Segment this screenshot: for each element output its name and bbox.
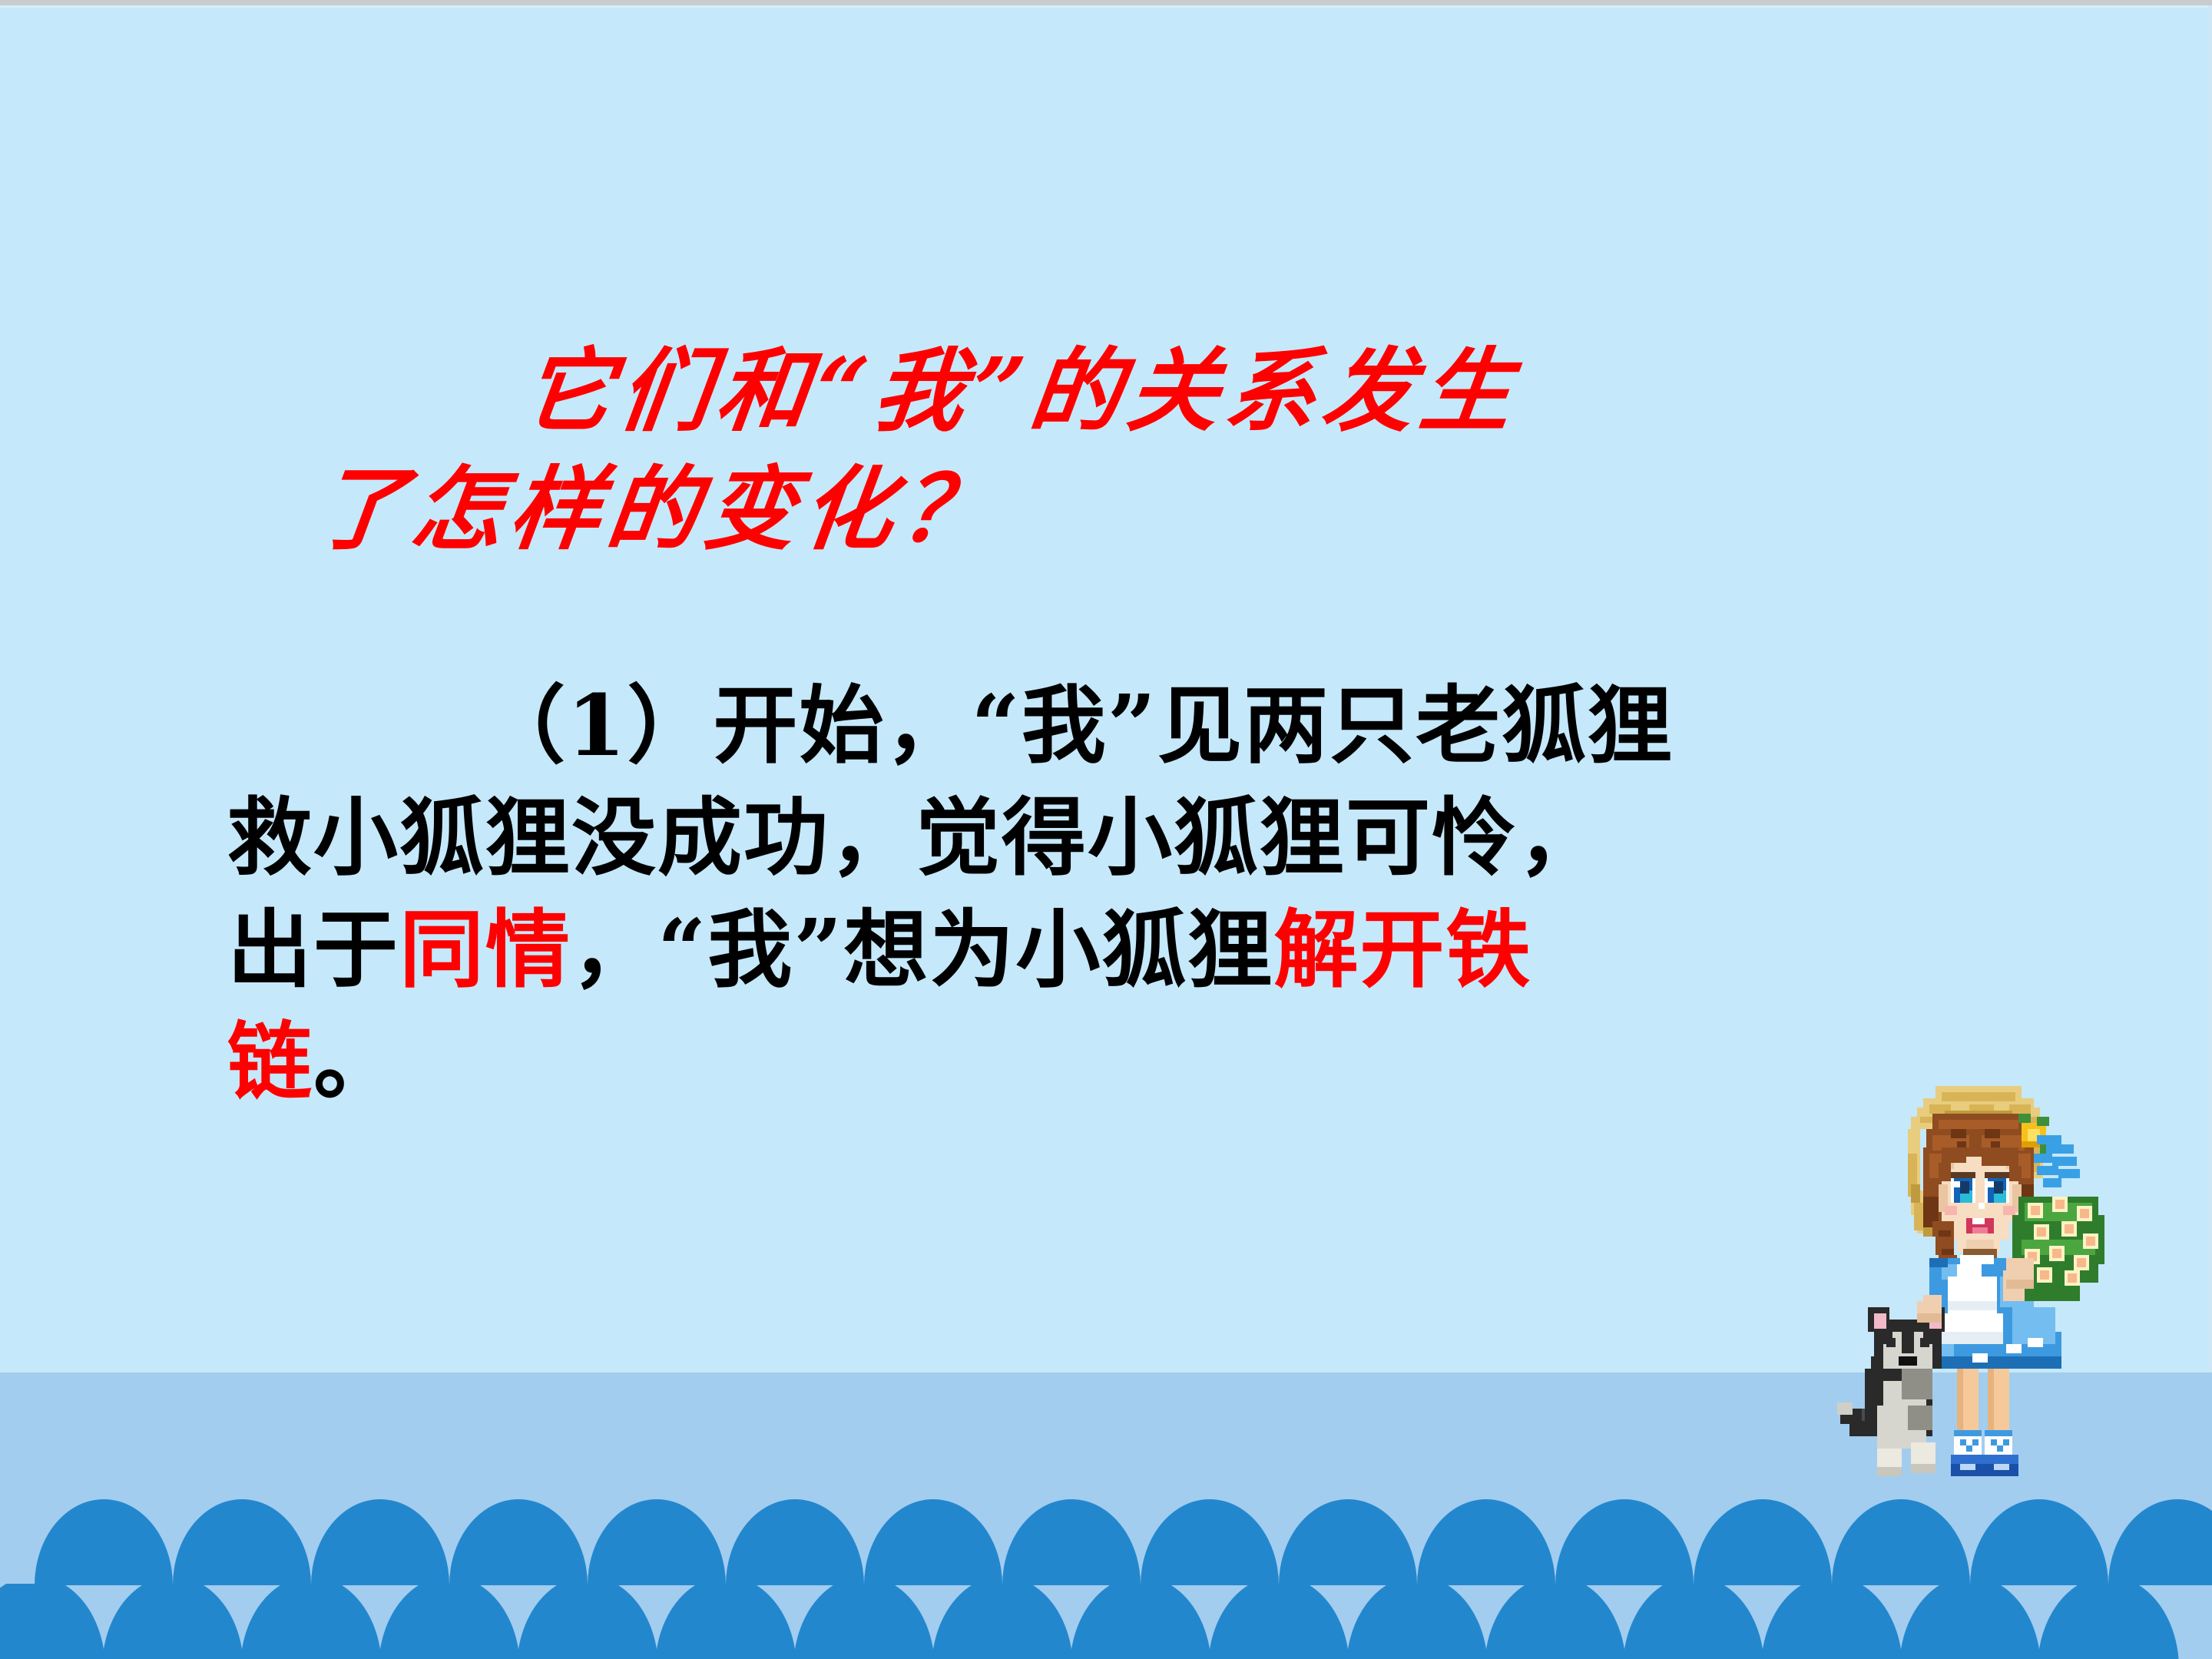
body-line-1: （1）开始，“我”见两只老狐狸 (227, 670, 1994, 782)
highlight-untie-chain-part1: 解开铁 (1274, 900, 1532, 999)
body-paragraph: （1）开始，“我”见两只老狐狸 救小狐狸没成功，觉得小狐狸可怜， 出于同情，“我… (227, 670, 1994, 1118)
body-line-2: 救小狐狸没成功，觉得小狐狸可怜， (227, 782, 1994, 894)
body-line-3-part-a: 出于 (227, 900, 399, 999)
highlight-sympathy: 同情 (399, 900, 571, 999)
slide-title: 它们和“我”的关系发生 了怎样的变化？ (0, 332, 2212, 568)
body-line-4-period: 。 (313, 1012, 399, 1111)
top-edge-highlight (0, 5, 2212, 8)
scallop-row-lower (0, 1584, 2212, 1659)
slide-canvas: 它们和“我”的关系发生 了怎样的变化？ （1）开始，“我”见两只老狐狸 救小狐狸… (0, 0, 2212, 1659)
top-edge-rule (0, 0, 2212, 5)
body-line-3: 出于同情，“我”想为小狐狸解开铁 (227, 894, 1994, 1006)
pixel-art-girl-with-dog (1834, 1061, 2151, 1522)
highlight-untie-chain-part2: 链 (227, 1012, 313, 1111)
body-line-4: 链。 (227, 1006, 1994, 1118)
title-line-1: 它们和“我”的关系发生 (0, 332, 2212, 450)
title-line-2: 了怎样的变化？ (0, 450, 2212, 568)
body-line-3-part-b: ，“我”想为小狐狸 (571, 900, 1274, 999)
